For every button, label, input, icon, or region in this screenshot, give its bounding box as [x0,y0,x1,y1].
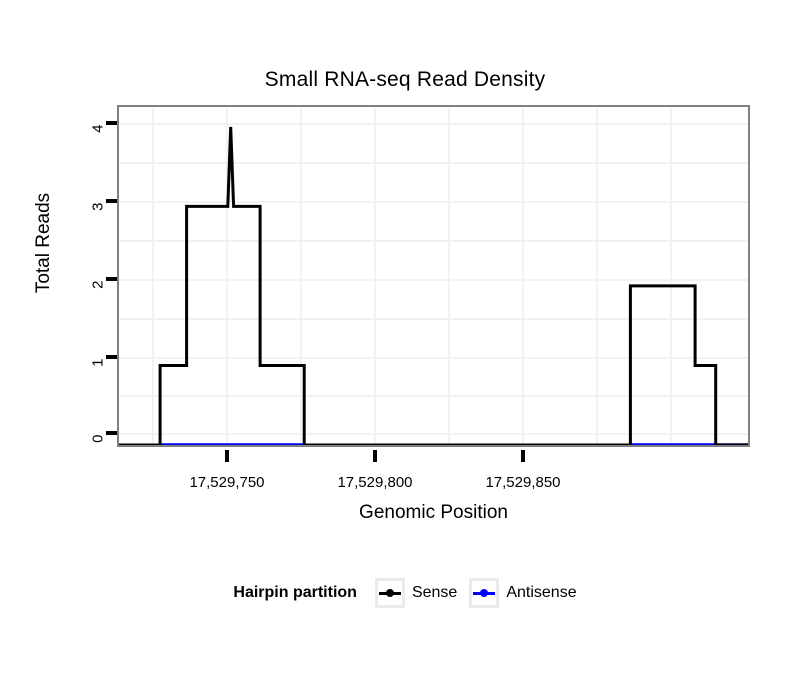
y-tick-label-1: 1 [90,359,107,399]
y-tick-label-0: 0 [90,435,107,475]
y-tick-mark-4 [106,121,117,125]
x-tick-mark-3 [521,450,525,462]
y-tick-mark-0 [106,431,117,435]
legend-label-antisense: Antisense [506,584,576,602]
legend-entry-sense[interactable]: Sense [375,578,457,608]
chart-figure: Small RNA-seq Read Density Total Reads 4… [0,0,810,690]
legend-title: Hairpin partition [233,584,357,602]
x-tick-mark-1 [225,450,229,462]
y-tick-label-3: 3 [90,203,107,243]
legend-key-dot-sense [386,589,394,597]
y-tick-mark-1 [106,355,117,359]
y-tick-mark-3 [106,199,117,203]
legend: Hairpin partition Sense Antisense [0,578,810,608]
x-tick-mark-2 [373,450,377,462]
x-tick-label-2: 17,529,800 [305,474,445,491]
legend-entry-antisense[interactable]: Antisense [469,578,576,608]
gridlines [119,107,748,445]
x-tick-label-3: 17,529,850 [453,474,593,491]
x-tick-label-1: 17,529,750 [157,474,297,491]
page-title: Small RNA-seq Read Density [0,68,810,92]
y-tick-label-2: 2 [90,281,107,321]
y-tick-label-4: 4 [90,125,107,165]
plot-area [119,107,748,445]
legend-key-sense [375,578,405,608]
legend-label-sense: Sense [412,584,457,602]
y-tick-mark-2 [106,277,117,281]
x-axis-title: Genomic Position [117,502,750,524]
y-axis-title: Total Reads [33,153,55,333]
series-sense [119,127,748,445]
legend-key-antisense [469,578,499,608]
plot-panel [117,105,750,447]
